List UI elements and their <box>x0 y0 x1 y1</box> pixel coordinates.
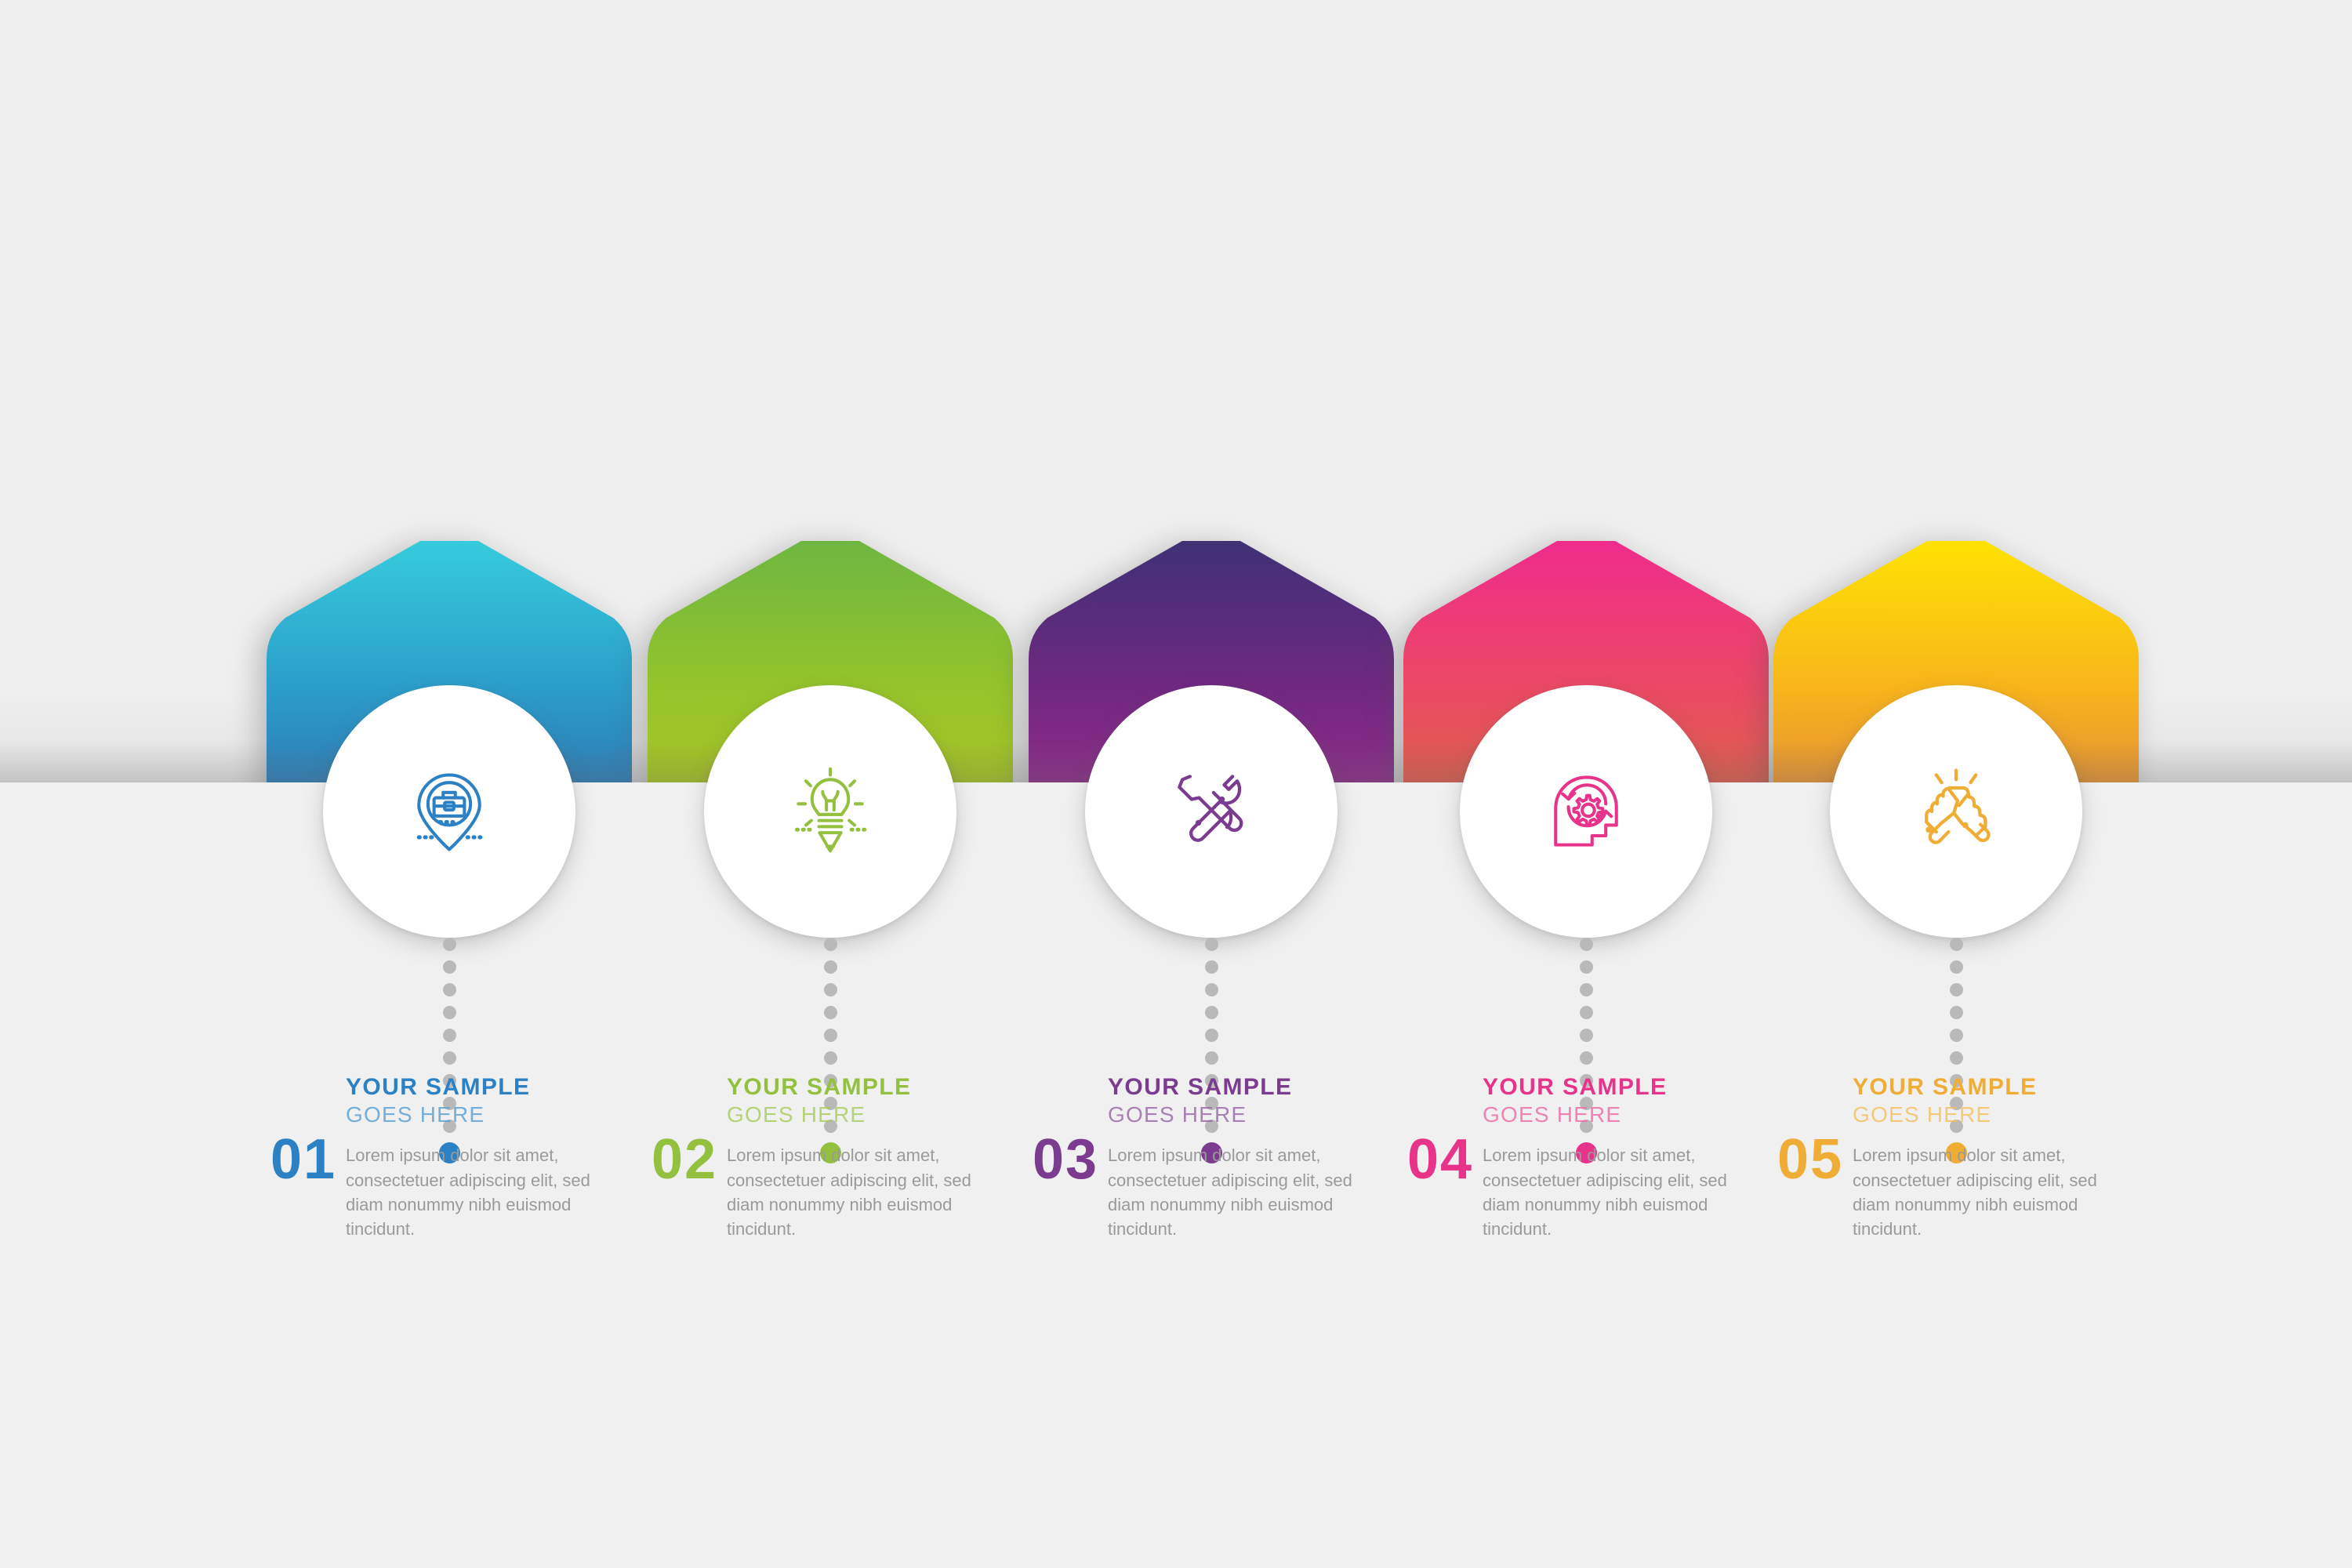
connector-dot <box>1205 1006 1218 1019</box>
connector-dot <box>824 1006 837 1019</box>
step-title: YOUR SAMPLE <box>1108 1076 1370 1100</box>
step-subtitle: GOES HERE <box>1483 1100 1744 1130</box>
step-number: 05 <box>1777 1134 1853 1185</box>
step-text-block-5: YOUR SAMPLE GOES HERE 05 Lorem ipsum dol… <box>1777 1076 2114 1241</box>
step-number: 01 <box>270 1134 346 1185</box>
step-icon-circle-3[interactable] <box>1085 685 1338 938</box>
connector-dot <box>1205 960 1218 974</box>
step-text-block-3: YOUR SAMPLE GOES HERE 03 Lorem ipsum dol… <box>1033 1076 1370 1241</box>
location-pin-briefcase-icon <box>401 763 498 860</box>
step-icon-circle-4[interactable] <box>1460 685 1712 938</box>
step-subtitle: GOES HERE <box>346 1100 608 1130</box>
connector-dot <box>1205 1029 1218 1042</box>
connector-dot <box>1950 1029 1963 1042</box>
step-subtitle: GOES HERE <box>727 1100 989 1130</box>
connector-dot <box>1950 983 1963 996</box>
step-body: Lorem ipsum dolor sit amet, consectetuer… <box>346 1134 608 1241</box>
step-title: YOUR SAMPLE <box>1853 1076 2114 1100</box>
connector-dot <box>824 1051 837 1065</box>
connector-dot <box>1205 1051 1218 1065</box>
step-body: Lorem ipsum dolor sit amet, consectetuer… <box>1853 1134 2114 1241</box>
connector-dot <box>1205 983 1218 996</box>
wrench-screwdriver-tools-icon <box>1163 763 1260 860</box>
connector-dot <box>824 938 837 951</box>
handshake-partnership-icon <box>1907 763 2005 860</box>
connector-dot <box>1950 960 1963 974</box>
connector-dot <box>824 960 837 974</box>
connector-dot <box>443 960 456 974</box>
step-icon-circle-5[interactable] <box>1830 685 2082 938</box>
lightbulb-pencil-idea-icon <box>782 763 879 860</box>
connector-dot <box>1950 1051 1963 1065</box>
step-body: Lorem ipsum dolor sit amet, consectetuer… <box>1108 1134 1370 1241</box>
connector-dot <box>1950 938 1963 951</box>
step-body: Lorem ipsum dolor sit amet, consectetuer… <box>727 1134 989 1241</box>
connector-dot <box>1205 938 1218 951</box>
connector-dot <box>443 938 456 951</box>
step-title: YOUR SAMPLE <box>727 1076 989 1100</box>
connector-dot <box>443 1051 456 1065</box>
connector-dot <box>443 1029 456 1042</box>
step-number: 04 <box>1407 1134 1483 1185</box>
step-text-block-4: YOUR SAMPLE GOES HERE 04 Lorem ipsum dol… <box>1407 1076 1744 1241</box>
connector-dot <box>1580 983 1593 996</box>
connector-dot <box>443 1006 456 1019</box>
connector-dot <box>1580 1006 1593 1019</box>
connector-dot <box>1580 1051 1593 1065</box>
connector-dot <box>824 1029 837 1042</box>
connector-dot <box>824 983 837 996</box>
step-shapes-layer <box>0 0 2352 782</box>
step-title: YOUR SAMPLE <box>1483 1076 1744 1100</box>
connector-dot <box>1580 960 1593 974</box>
step-text-block-2: YOUR SAMPLE GOES HERE 02 Lorem ipsum dol… <box>652 1076 989 1241</box>
connector-dot <box>1950 1006 1963 1019</box>
step-title: YOUR SAMPLE <box>346 1076 608 1100</box>
connector-dot <box>1580 1029 1593 1042</box>
connector-dot <box>1580 938 1593 951</box>
step-icon-circle-1[interactable] <box>323 685 575 938</box>
step-number: 02 <box>652 1134 727 1185</box>
step-subtitle: GOES HERE <box>1853 1100 2114 1130</box>
step-icon-circle-2[interactable] <box>704 685 956 938</box>
head-gear-process-icon <box>1537 763 1635 860</box>
infographic-canvas: YOUR SAMPLE GOES HERE 01 Lorem ipsum dol… <box>0 0 2352 1568</box>
step-number: 03 <box>1033 1134 1108 1185</box>
step-text-block-1: YOUR SAMPLE GOES HERE 01 Lorem ipsum dol… <box>270 1076 608 1241</box>
step-body: Lorem ipsum dolor sit amet, consectetuer… <box>1483 1134 1744 1241</box>
connector-dot <box>443 983 456 996</box>
step-subtitle: GOES HERE <box>1108 1100 1370 1130</box>
